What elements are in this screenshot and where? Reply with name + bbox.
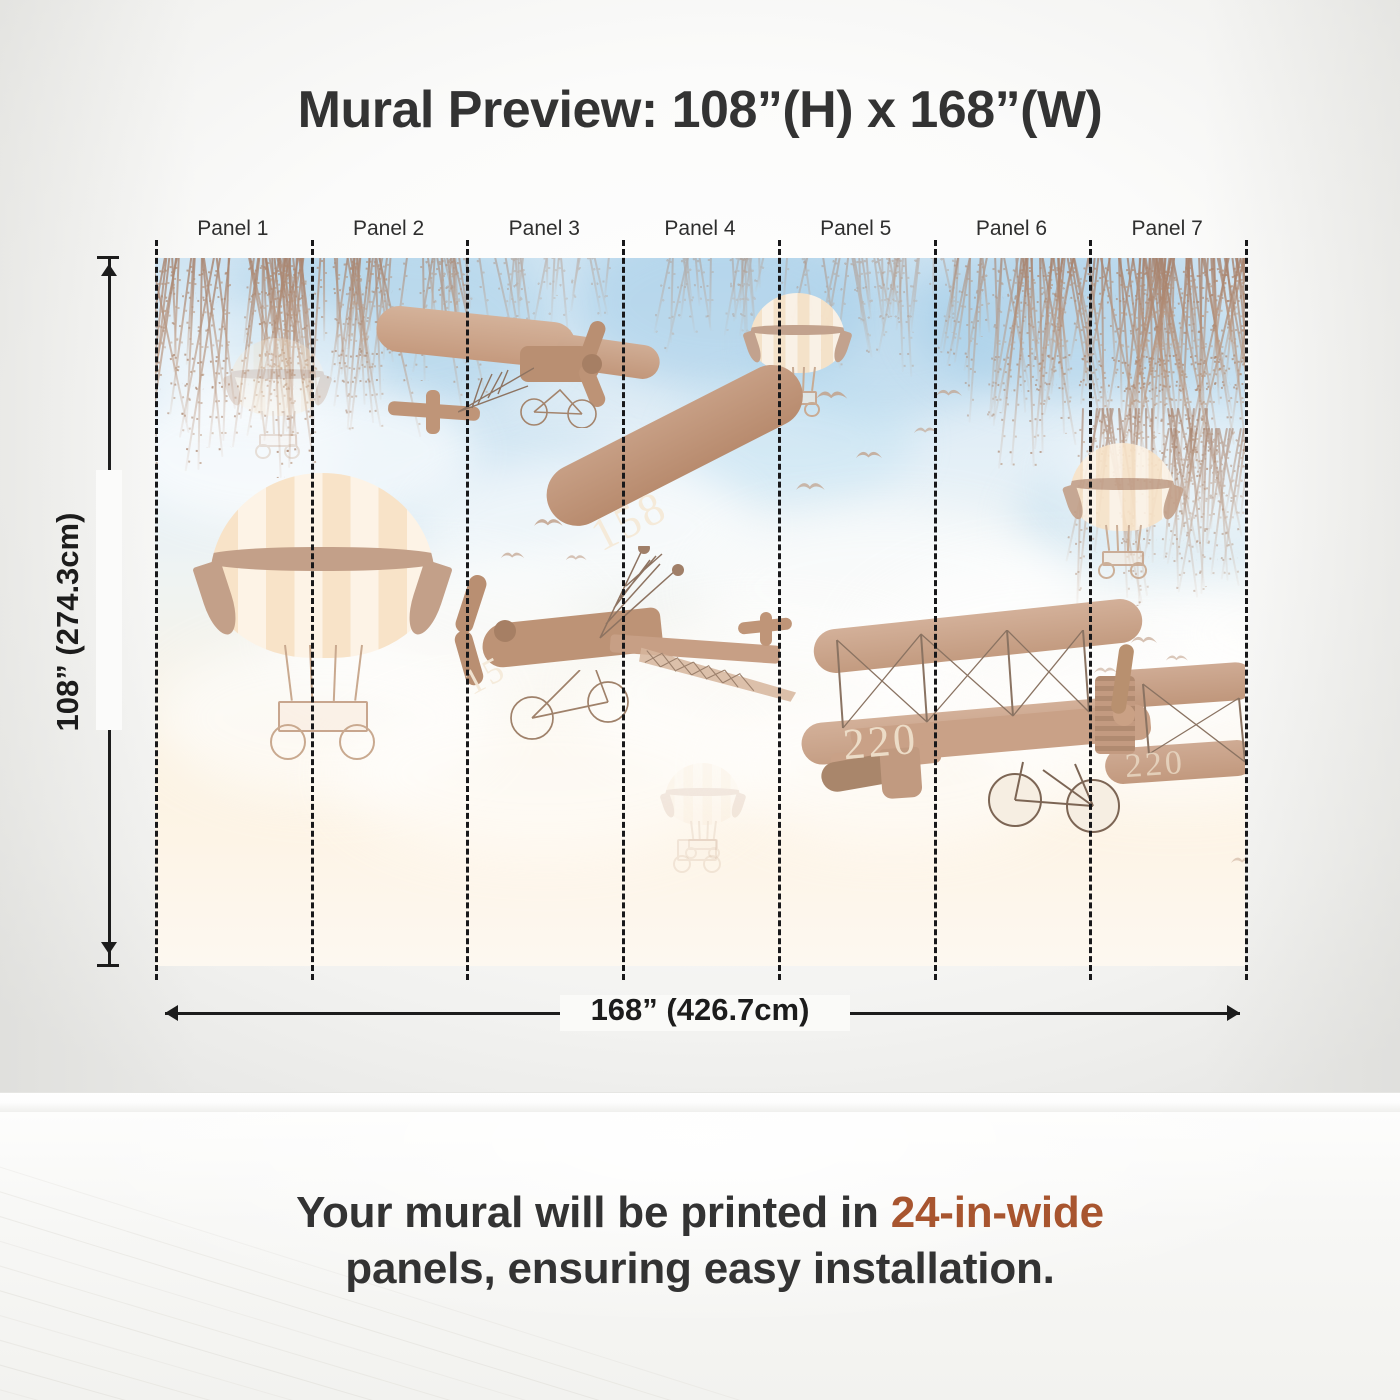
room-scene: Mural Preview: 108”(H) x 168”(W) Panel 1… — [0, 0, 1400, 1400]
height-label-backdrop — [96, 470, 122, 730]
height-arrow-up — [101, 264, 117, 276]
caption-line-1: Your mural will be printed in 24-in-wide — [0, 1185, 1400, 1241]
caption-line-2: panels, ensuring easy installation. — [0, 1241, 1400, 1297]
width-dimension-label: 168” (426.7cm) — [0, 992, 1400, 1028]
caption-highlight: 24-in-wide — [891, 1188, 1104, 1237]
page-title: Mural Preview: 108”(H) x 168”(W) — [0, 80, 1400, 140]
height-arrow-down — [101, 942, 117, 954]
height-dimension-label: 108” (274.3cm) — [50, 342, 86, 902]
caption-text-before: Your mural will be printed in — [296, 1188, 891, 1237]
panel-divider-0 — [155, 240, 158, 980]
panel-divider-1 — [311, 240, 314, 980]
footer-caption: Your mural will be printed in 24-in-wide… — [0, 1185, 1400, 1298]
height-cap-bottom — [97, 964, 119, 967]
panel-divider-3 — [622, 240, 625, 980]
panel-divider-5 — [934, 240, 937, 980]
panel-separator-layer — [155, 240, 1245, 980]
panel-divider-6 — [1089, 240, 1092, 980]
panel-divider-2 — [466, 240, 469, 980]
baseboard — [0, 1092, 1400, 1114]
panel-divider-4 — [778, 240, 781, 980]
panel-divider-7 — [1245, 240, 1248, 980]
